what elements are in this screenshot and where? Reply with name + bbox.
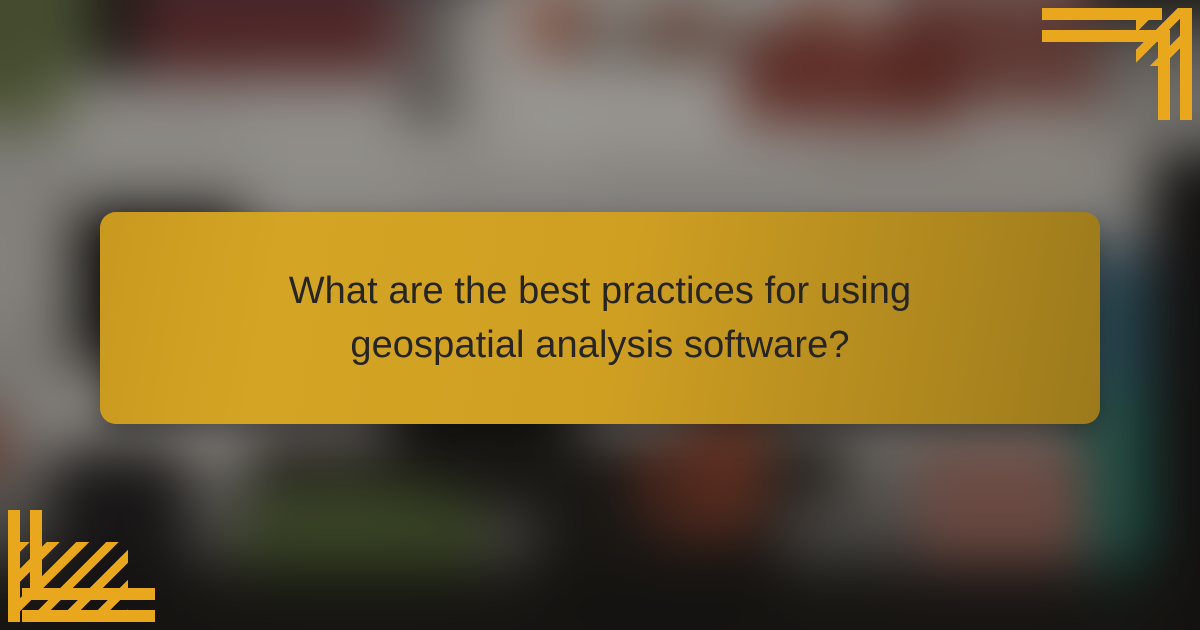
corner-bracket-bottom-left (0, 510, 180, 630)
corner-bracket-top-right (1020, 0, 1200, 120)
ornament-hatch-bottom-left (8, 542, 128, 622)
promo-card-image: What are the best practices for using ge… (0, 0, 1200, 630)
question-card: What are the best practices for using ge… (100, 212, 1100, 424)
ornament-hatch-top-right (1136, 8, 1192, 66)
question-text: What are the best practices for using ge… (250, 264, 950, 372)
